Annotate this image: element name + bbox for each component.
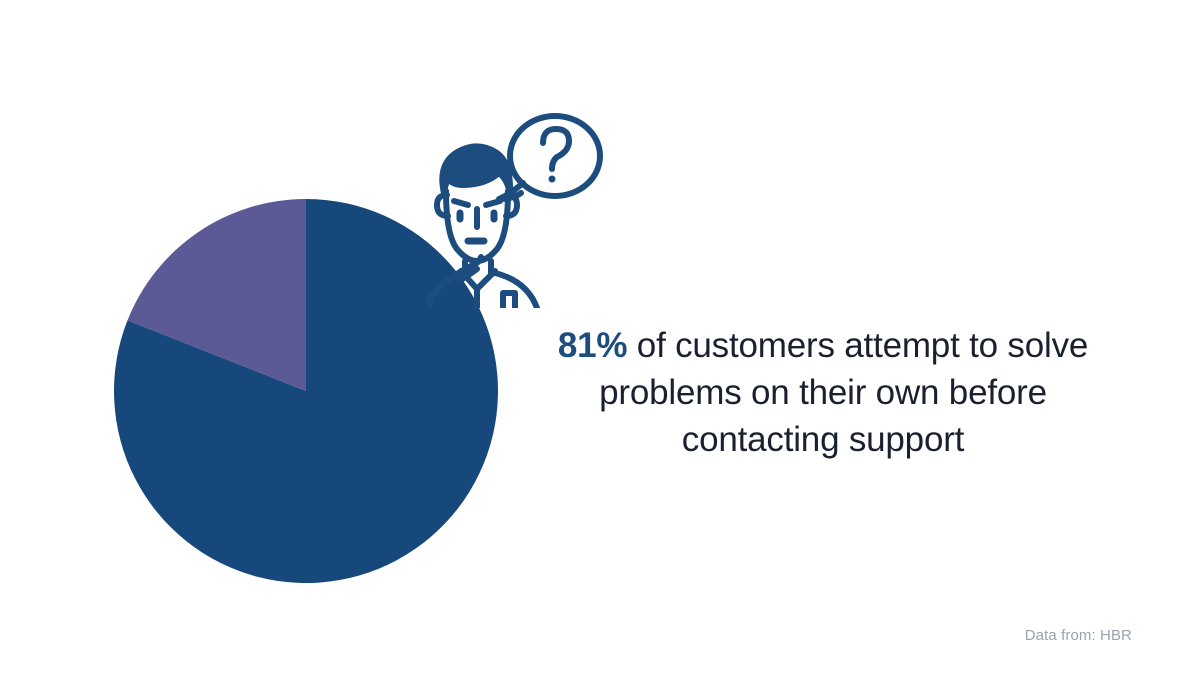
statement-text: 81% of customers attempt to solve proble… (548, 322, 1098, 463)
infographic-canvas: 81% of customers attempt to solve proble… (0, 0, 1200, 700)
statement-body: of customers attempt to solve problems o… (599, 326, 1088, 459)
question-mark-dot-icon (549, 176, 556, 183)
confused-person-svg (415, 103, 605, 308)
data-source-label: Data from: HBR (1025, 627, 1132, 644)
shirt-pocket-icon (503, 293, 515, 308)
left-eyebrow-icon (454, 201, 468, 205)
right-eyebrow-icon (486, 201, 500, 205)
question-mark-icon (543, 129, 569, 169)
statistic-value: 81% (558, 326, 627, 365)
confused-person-icon (415, 103, 605, 308)
hair-icon (442, 146, 510, 193)
